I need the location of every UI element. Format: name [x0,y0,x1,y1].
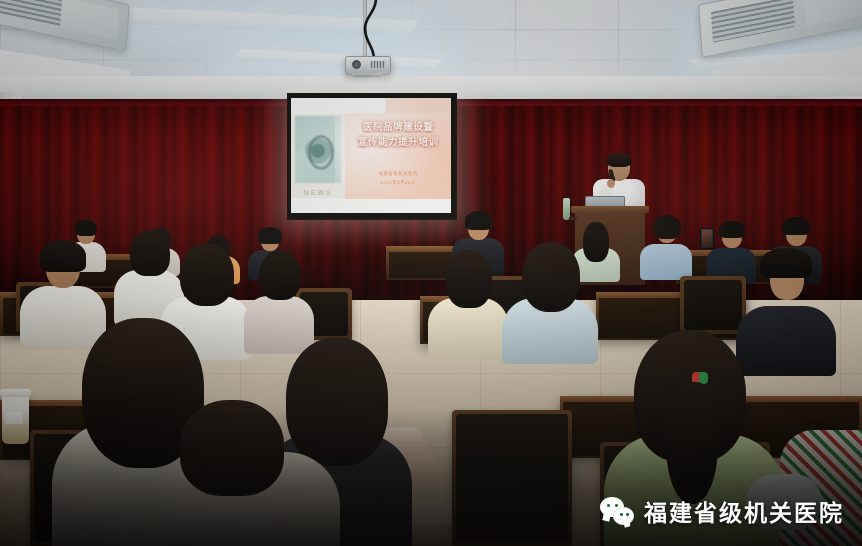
chair-pad [684,280,742,330]
projector-cable-icon [356,0,382,60]
screen-light-wash [291,98,451,213]
person-hair [446,250,492,308]
wechat-dot-2 [615,504,618,507]
audience-person-mid-5 [428,250,508,358]
person-hair [465,211,492,230]
ac-panel-left [60,0,119,40]
speaker-hair [606,153,632,167]
person-hair [75,220,97,236]
projector-base [352,73,382,77]
wechat-dot-1 [607,504,610,507]
person-hair [760,248,812,278]
speaker-hand [607,179,615,188]
person-ponytail [666,382,718,504]
person-hair [259,250,301,300]
podium-top [571,206,649,213]
person-hair [719,221,745,238]
photo-scene: 医院品牌建设暨 福建省级机关医院 NEWS 医院品牌建设暨 宣传能力提升培训 [0,0,862,546]
audience-person-mid-6 [502,242,598,360]
projector-lens-icon [352,60,361,69]
person-hair [653,215,681,239]
projection-screen-surface: NEWS 医院品牌建设暨 宣传能力提升培训 福建省级机关医院 2021年5月28… [291,98,451,213]
audience-person-mid-4 [244,250,314,350]
projector-vent [371,61,385,68]
projection-screen: NEWS 医院品牌建设暨 宣传能力提升培训 福建省级机关医院 2021年5月28… [287,93,457,220]
wechat-icon [600,497,634,525]
wechat-bubble-small [613,507,634,525]
person-torso [640,244,692,280]
chair-front-center [452,410,572,546]
audience-person-far-7 [640,216,692,278]
chair-pad [456,414,568,542]
person-hair [180,400,284,496]
cup-lid [0,389,31,397]
podium-mic-stub [569,217,577,220]
cup-label [5,412,23,424]
person-hair [782,217,810,235]
wechat-dot-3 [620,513,623,516]
ac-louver-right [711,0,795,42]
person-hair [522,242,580,312]
watermark: 福建省级机关医院 [600,494,844,528]
drink-cup [2,392,29,444]
ac-louver-left [0,0,65,26]
person-hair [180,244,234,306]
audience-person-front-5 [170,400,340,546]
person-hair [40,240,86,272]
ac-panel-right [804,0,862,26]
wechat-dot-4 [626,513,629,516]
watermark-text: 福建省级机关医院 [644,494,844,528]
person-hair [258,227,282,244]
